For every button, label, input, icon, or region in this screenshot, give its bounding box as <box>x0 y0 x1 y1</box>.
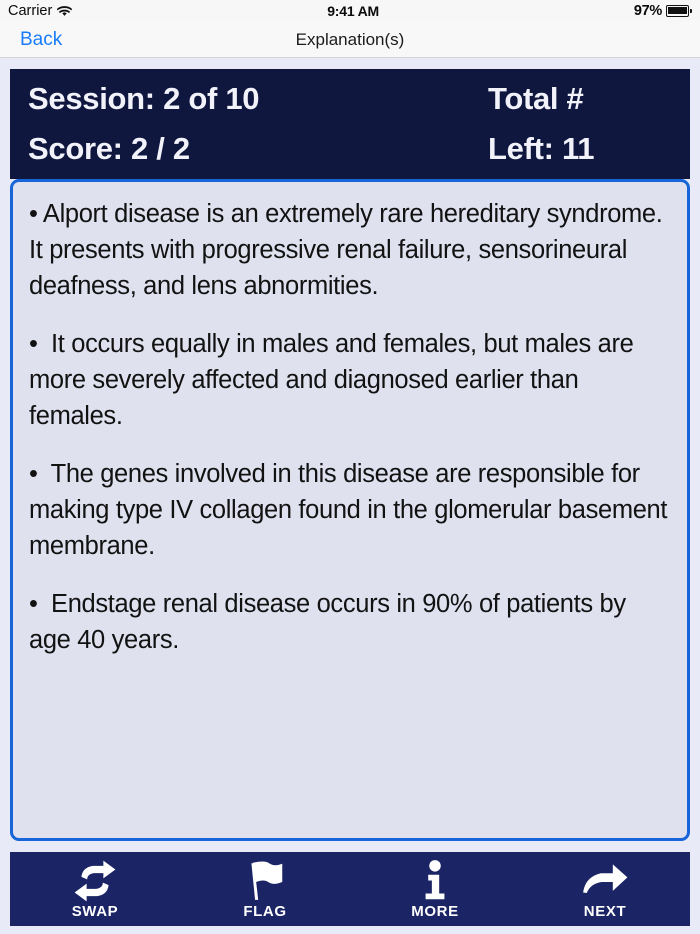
status-bar: Carrier 9:41 AM 97% <box>0 0 700 22</box>
total-label: Total # <box>488 81 584 117</box>
session-label: Session: 2 of 10 <box>28 81 488 117</box>
score-label: Score: 2 / 2 <box>28 131 488 167</box>
navigation-bar: Back Explanation(s) <box>0 22 700 58</box>
explanation-bullet: • Alport disease is an extremely rare he… <box>29 196 671 304</box>
status-bar-right: 97% <box>634 3 692 19</box>
page-title: Explanation(s) <box>0 30 700 50</box>
explanation-bullet: • It occurs equally in males and females… <box>29 326 671 434</box>
wifi-icon <box>57 5 72 17</box>
explanation-bullet: • The genes involved in this disease are… <box>29 456 671 564</box>
flag-button[interactable]: FLAG <box>180 852 350 926</box>
app-screen: Carrier 9:41 AM 97% Back Explanation(s) <box>0 0 700 934</box>
score-panel-row-score: Score: 2 / 2 Left: 11 <box>28 124 690 174</box>
carrier-label: Carrier <box>8 3 52 19</box>
score-panel: Session: 2 of 10 Total # Score: 2 / 2 Le… <box>10 69 690 179</box>
explanation-bullet: • Endstage renal disease occurs in 90% o… <box>29 586 671 658</box>
status-bar-left: Carrier <box>8 3 72 19</box>
bottom-toolbar: SWAP FLAG MORE <box>10 852 690 926</box>
battery-percent-label: 97% <box>634 3 662 19</box>
left-label: Left: 11 <box>488 131 594 167</box>
swap-arrows-icon <box>65 860 125 902</box>
more-button[interactable]: MORE <box>350 852 520 926</box>
battery-icon <box>666 5 692 17</box>
info-icon <box>405 860 465 902</box>
flag-icon <box>235 860 295 902</box>
next-button-label: NEXT <box>584 903 626 920</box>
status-bar-time: 9:41 AM <box>72 3 634 19</box>
arrow-right-curved-icon <box>575 860 635 902</box>
back-button[interactable]: Back <box>20 29 62 51</box>
score-panel-row-session: Session: 2 of 10 Total # <box>28 74 690 124</box>
swap-button-label: SWAP <box>72 903 119 920</box>
more-button-label: MORE <box>411 903 458 920</box>
flag-button-label: FLAG <box>243 903 286 920</box>
swap-button[interactable]: SWAP <box>10 852 180 926</box>
next-button[interactable]: NEXT <box>520 852 690 926</box>
explanation-content-box[interactable]: • Alport disease is an extremely rare he… <box>10 179 690 841</box>
